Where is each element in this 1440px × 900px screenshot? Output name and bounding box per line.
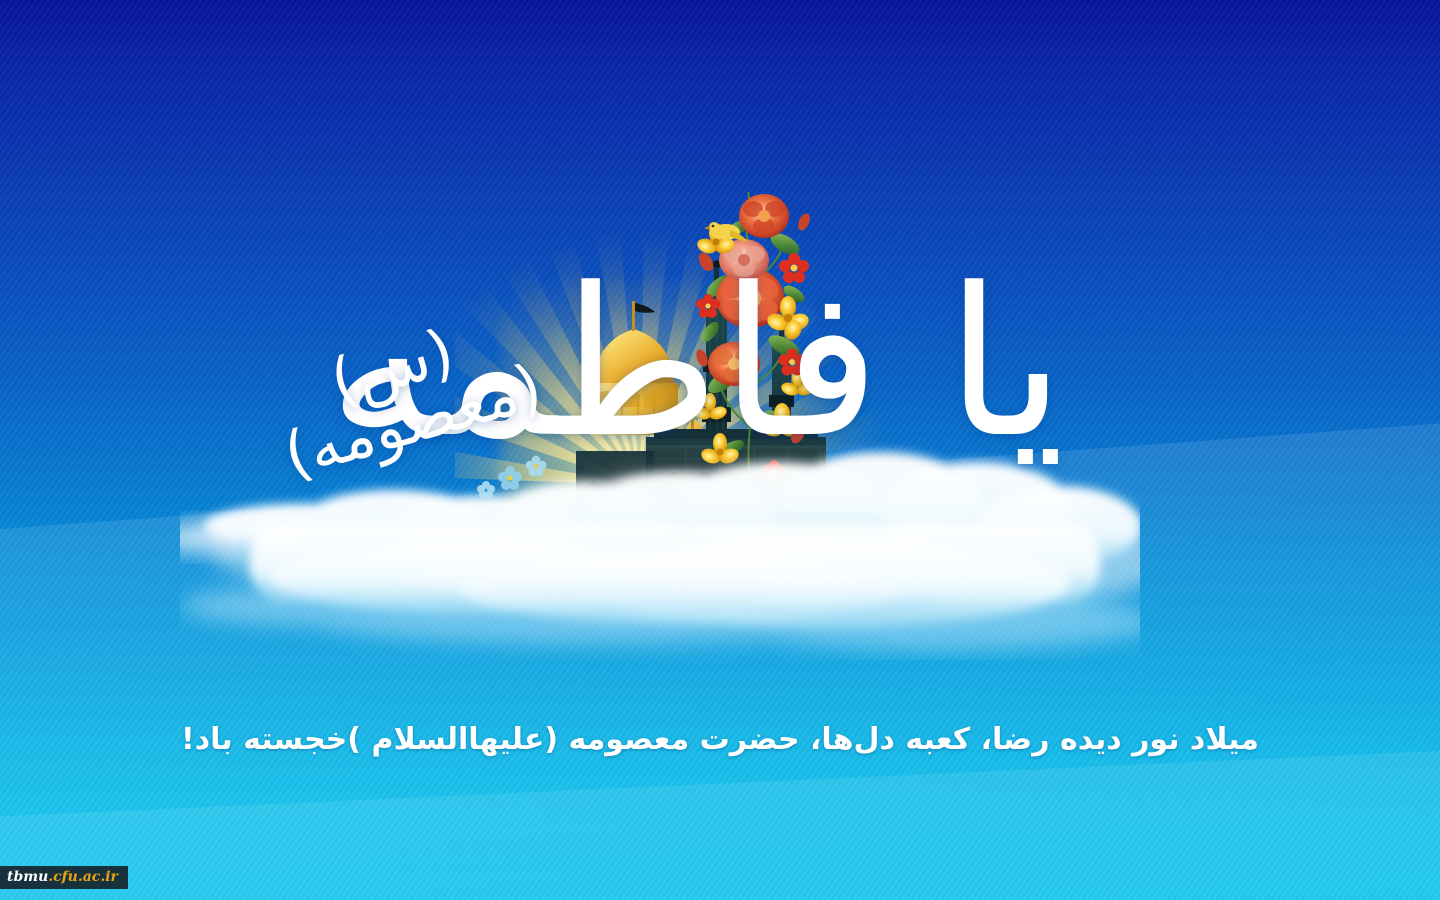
artwork-group: یا فاطمه (س) (معصومه) xyxy=(0,0,1440,660)
watermark-secondary: .cfu.ac.ir xyxy=(48,869,118,885)
greeting-text: میلاد نور دیده رضا، کعبه دل‌ها، حضرت معص… xyxy=(0,722,1440,757)
poster-canvas: یا فاطمه (س) (معصومه) xyxy=(0,0,1440,900)
bottom-band xyxy=(0,700,1440,820)
watermark-badge: tbmu.cfu.ac.ir xyxy=(0,866,128,889)
watermark-primary: tbmu xyxy=(7,869,48,885)
